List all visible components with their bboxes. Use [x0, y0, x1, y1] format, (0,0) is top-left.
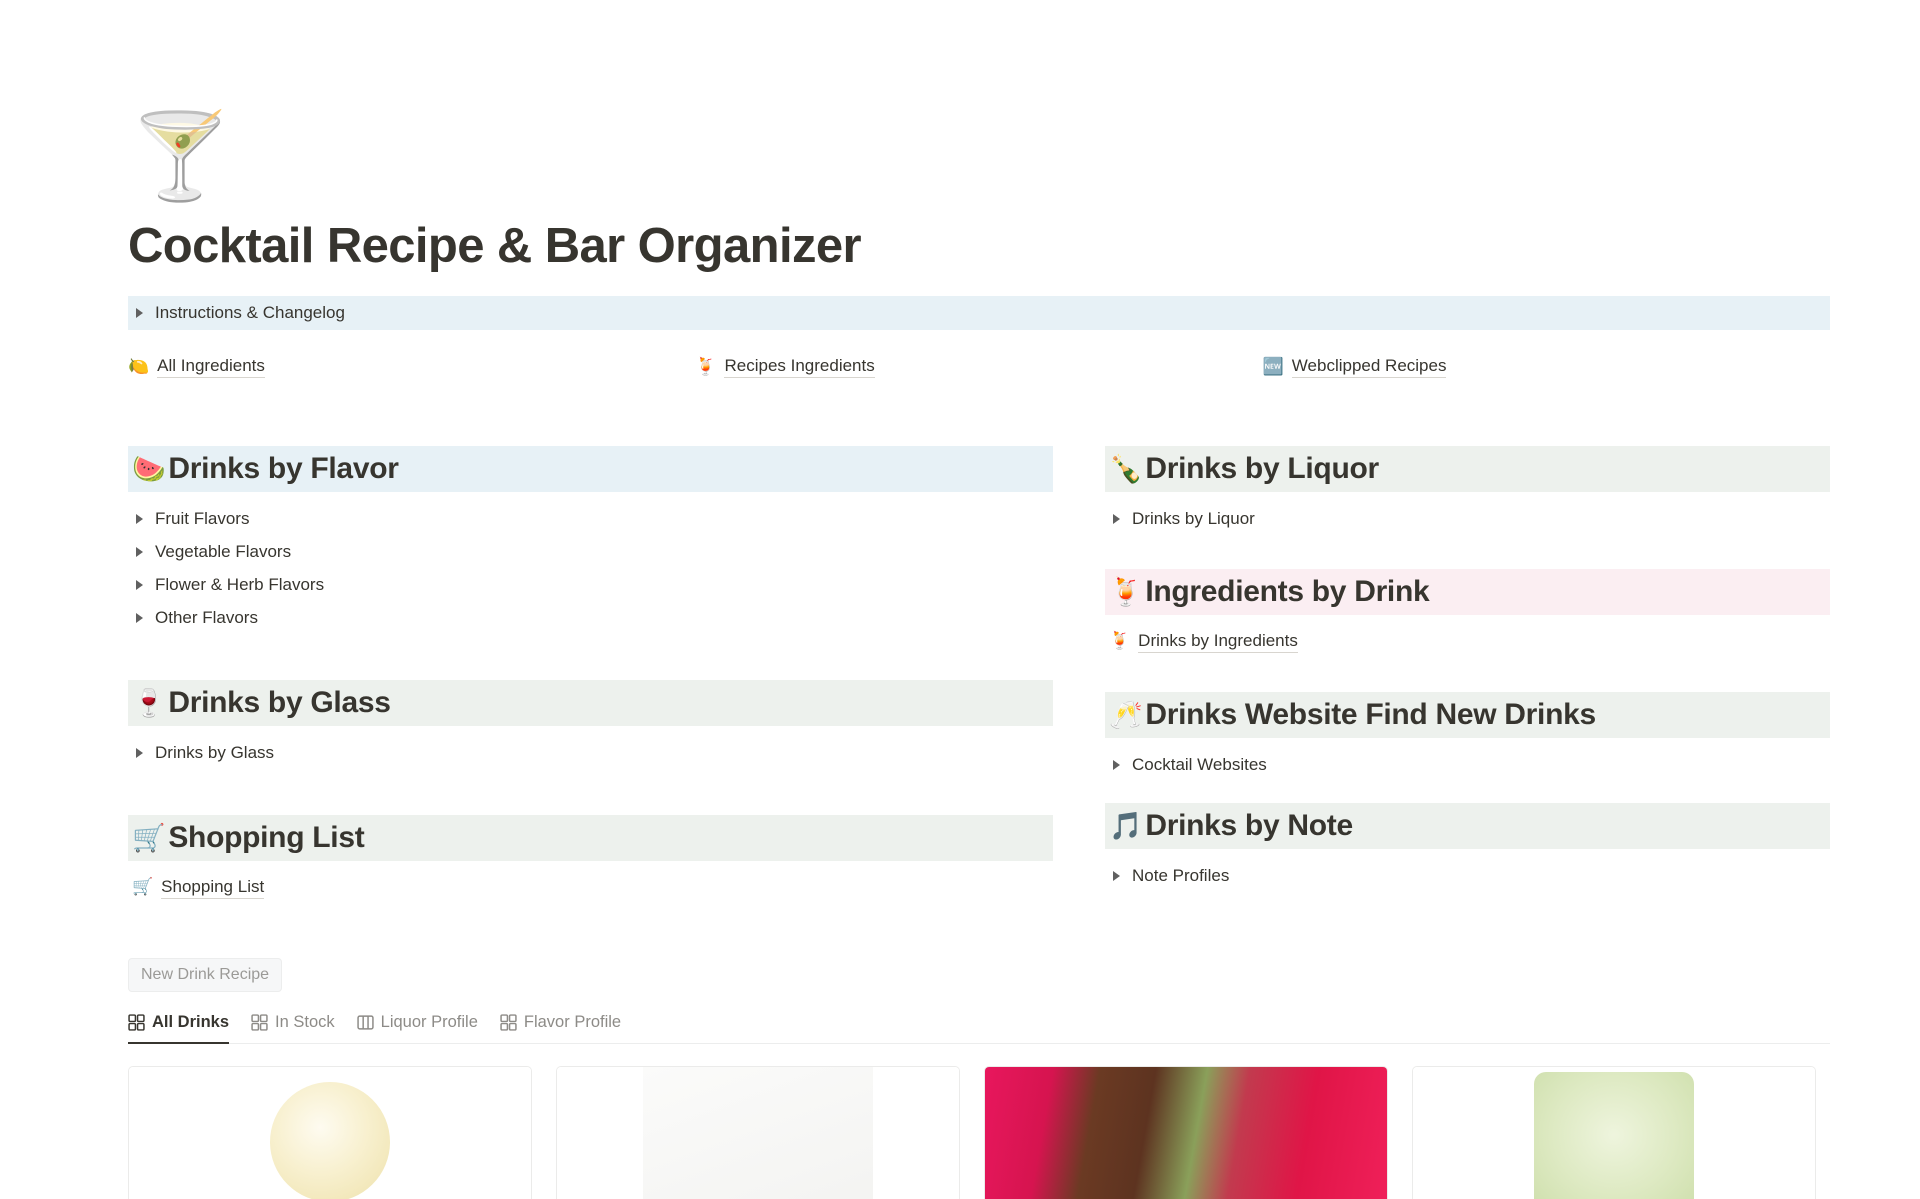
section-header-shopping-list: 🛒 Shopping List: [128, 815, 1053, 861]
tab-label: Liquor Profile: [381, 1013, 478, 1032]
drinks-by-note-items: Note Profiles: [1105, 859, 1830, 892]
page-title: Cocktail Recipe & Bar Organizer: [128, 218, 1830, 274]
toggle-label: Other Flavors: [155, 608, 258, 628]
section-title: Drinks by Note: [1145, 809, 1353, 843]
quick-link-column: 🍹 Recipes Ingredients: [695, 356, 1262, 378]
chevron-right-icon[interactable]: [136, 748, 143, 758]
toggle-label: Flower & Herb Flavors: [155, 575, 324, 595]
section-title: Drinks by Liquor: [1145, 452, 1379, 486]
wine-glass-icon: 🍷: [132, 690, 165, 717]
toggle-label: Cocktail Websites: [1132, 755, 1267, 775]
drinks-by-glass-items: Drinks by Glass: [128, 736, 1053, 769]
gallery-cards: [128, 1066, 1830, 1199]
toggle-note-profiles[interactable]: Note Profiles: [1105, 859, 1830, 892]
notion-page: 🍸 Cocktail Recipe & Bar Organizer Instru…: [0, 0, 1920, 1199]
instructions-changelog-label: Instructions & Changelog: [155, 303, 345, 323]
section-title: Drinks by Glass: [168, 686, 390, 720]
link-webclipped-recipes[interactable]: 🆕 Webclipped Recipes: [1263, 356, 1447, 378]
cocktail-glass-icon[interactable]: 🍸: [128, 108, 224, 204]
spacer: [1105, 781, 1830, 803]
clinking-glasses-icon: 🥂: [1109, 702, 1142, 729]
section-title: Ingredients by Drink: [1145, 575, 1429, 609]
toggle-drinks-by-glass[interactable]: Drinks by Glass: [128, 736, 1053, 769]
champagne-bottle-icon: 🍾: [1109, 456, 1142, 483]
toggle-label: Vegetable Flavors: [155, 542, 291, 562]
toggle-fruit-flavors[interactable]: Fruit Flavors: [128, 502, 1053, 535]
section-header-ingredients-by-drink: 🍹 Ingredients by Drink: [1105, 569, 1830, 615]
chevron-right-icon[interactable]: [1113, 514, 1120, 524]
board-icon: [357, 1014, 374, 1031]
ingredients-by-drink-items: 🍹 Drinks by Ingredients: [1105, 625, 1830, 658]
database-view-tabs: All Drinks In Stock: [128, 1008, 1830, 1044]
toggle-label: Note Profiles: [1132, 866, 1229, 886]
chevron-right-icon[interactable]: [136, 547, 143, 557]
link-item-shopping-list: 🛒 Shopping List: [128, 871, 1053, 904]
toggle-drinks-by-liquor[interactable]: Drinks by Liquor: [1105, 502, 1830, 535]
shopping-cart-icon: 🛒: [132, 825, 165, 852]
new-badge-icon: 🆕: [1263, 359, 1284, 376]
spacer: [128, 769, 1053, 815]
tab-all-drinks[interactable]: All Drinks: [128, 1008, 229, 1043]
link-item-drinks-by-ingredients: 🍹 Drinks by Ingredients: [1105, 625, 1830, 658]
card-cover-image: [129, 1067, 531, 1199]
gallery-card[interactable]: [1412, 1066, 1816, 1199]
tab-label: Flavor Profile: [524, 1013, 621, 1032]
tab-liquor-profile[interactable]: Liquor Profile: [357, 1008, 478, 1043]
gallery-card[interactable]: [984, 1066, 1388, 1199]
section-title: Drinks by Flavor: [168, 452, 398, 486]
instructions-changelog-toggle[interactable]: Instructions & Changelog: [128, 296, 1830, 330]
chevron-right-icon[interactable]: [136, 514, 143, 524]
toggle-label: Fruit Flavors: [155, 509, 249, 529]
gallery-icon: [128, 1014, 145, 1031]
link-label: Shopping List: [161, 877, 264, 899]
tab-label: All Drinks: [152, 1013, 229, 1032]
card-cover-image: [985, 1067, 1387, 1199]
drinks-by-flavor-items: Fruit Flavors Vegetable Flavors Flower &…: [128, 502, 1053, 634]
section-title: Shopping List: [168, 821, 364, 855]
tab-in-stock[interactable]: In Stock: [251, 1008, 335, 1043]
shopping-cart-icon: 🛒: [132, 879, 153, 896]
chevron-right-icon[interactable]: [136, 613, 143, 623]
link-label: Webclipped Recipes: [1292, 356, 1447, 378]
drinks-database: New Drink Recipe All Drinks: [128, 958, 1830, 1199]
drinks-website-items: Cocktail Websites: [1105, 748, 1830, 781]
link-drinks-by-ingredients[interactable]: 🍹 Drinks by Ingredients: [1109, 631, 1298, 653]
new-drink-recipe-button[interactable]: New Drink Recipe: [128, 958, 282, 992]
quick-links-row: 🍋 All Ingredients 🍹 Recipes Ingredients …: [128, 356, 1830, 378]
cover-art: [643, 1067, 873, 1199]
gallery-card[interactable]: [128, 1066, 532, 1199]
toggle-label: Drinks by Liquor: [1132, 509, 1255, 529]
tab-label: In Stock: [275, 1013, 335, 1032]
page-content: 🍸 Cocktail Recipe & Bar Organizer Instru…: [128, 0, 1830, 1199]
toggle-label: Drinks by Glass: [155, 743, 274, 763]
link-label: Drinks by Ingredients: [1138, 631, 1298, 653]
toggle-cocktail-websites[interactable]: Cocktail Websites: [1105, 748, 1830, 781]
section-title: Drinks Website Find New Drinks: [1145, 698, 1596, 732]
quick-link-column: 🍋 All Ingredients: [128, 356, 695, 378]
cover-art: [270, 1082, 390, 1199]
link-label: All Ingredients: [157, 356, 265, 378]
chevron-right-icon[interactable]: [1113, 871, 1120, 881]
section-header-drinks-website: 🥂 Drinks Website Find New Drinks: [1105, 692, 1830, 738]
music-note-icon: 🎵: [1109, 813, 1142, 840]
quick-link-column: 🆕 Webclipped Recipes: [1263, 356, 1830, 378]
tropical-drink-icon: 🍹: [1109, 633, 1130, 650]
spacer: [1105, 658, 1830, 692]
cover-art: [1534, 1072, 1694, 1199]
shopping-list-items: 🛒 Shopping List: [128, 871, 1053, 904]
gallery-icon: [500, 1014, 517, 1031]
chevron-right-icon[interactable]: [1113, 760, 1120, 770]
spacer: [128, 634, 1053, 680]
left-column: 🍉 Drinks by Flavor Fruit Flavors Vegetab…: [128, 446, 1053, 904]
toggle-flower-herb-flavors[interactable]: Flower & Herb Flavors: [128, 568, 1053, 601]
toggle-other-flavors[interactable]: Other Flavors: [128, 601, 1053, 634]
two-column-layout: 🍉 Drinks by Flavor Fruit Flavors Vegetab…: [128, 446, 1830, 904]
card-cover-image: [557, 1067, 959, 1199]
link-recipes-ingredients[interactable]: 🍹 Recipes Ingredients: [695, 356, 874, 378]
chevron-right-icon[interactable]: [136, 308, 143, 318]
link-all-ingredients[interactable]: 🍋 All Ingredients: [128, 356, 265, 378]
section-header-drinks-by-glass: 🍷 Drinks by Glass: [128, 680, 1053, 726]
chevron-right-icon[interactable]: [136, 580, 143, 590]
tropical-drink-icon: 🍹: [695, 359, 716, 376]
section-header-drinks-by-flavor: 🍉 Drinks by Flavor: [128, 446, 1053, 492]
link-shopping-list[interactable]: 🛒 Shopping List: [132, 877, 264, 899]
section-header-drinks-by-note: 🎵 Drinks by Note: [1105, 803, 1830, 849]
lemon-icon: 🍋: [128, 359, 149, 376]
right-column: 🍾 Drinks by Liquor Drinks by Liquor 🍹 In…: [1105, 446, 1830, 904]
watermelon-icon: 🍉: [132, 456, 165, 483]
card-cover-image: [1413, 1067, 1815, 1199]
section-header-drinks-by-liquor: 🍾 Drinks by Liquor: [1105, 446, 1830, 492]
gallery-card[interactable]: [556, 1066, 960, 1199]
link-label: Recipes Ingredients: [724, 356, 874, 378]
gallery-icon: [251, 1014, 268, 1031]
toggle-vegetable-flavors[interactable]: Vegetable Flavors: [128, 535, 1053, 568]
tab-flavor-profile[interactable]: Flavor Profile: [500, 1008, 621, 1043]
tropical-drink-icon: 🍹: [1109, 579, 1142, 606]
spacer: [1105, 535, 1830, 569]
drinks-by-liquor-items: Drinks by Liquor: [1105, 502, 1830, 535]
